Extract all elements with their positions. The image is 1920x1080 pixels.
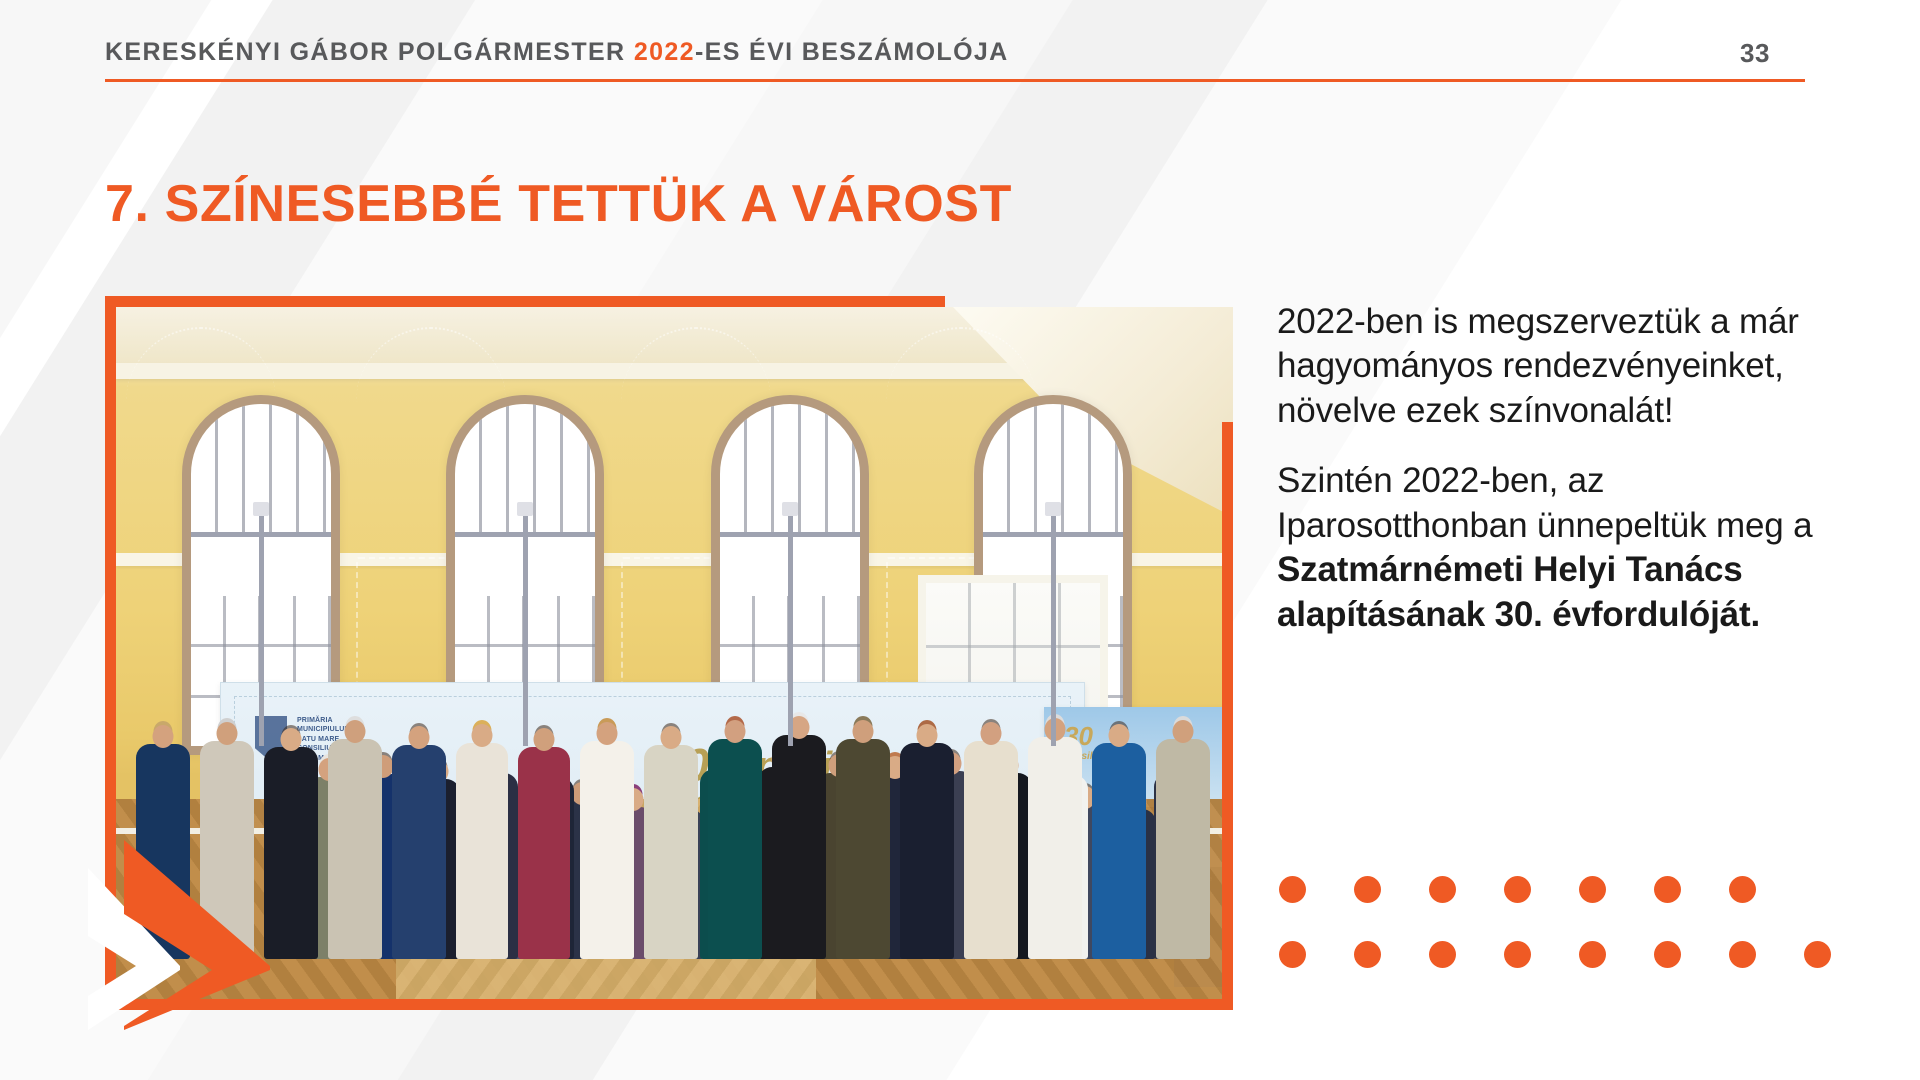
header-title-after: -ES ÉVI BESZÁMOLÓJA: [695, 38, 1009, 66]
header-title-year: 2022: [634, 38, 695, 66]
dot-row-1: [1279, 876, 1799, 903]
slide-header: KERESKÉNYI GÁBOR POLGÁRMESTER 2022-ES ÉV…: [105, 34, 1805, 86]
paragraph-2-bold: Szatmárnémeti Helyi Tanács alapításának …: [1277, 550, 1760, 633]
header-title-before: KERESKÉNYI GÁBOR POLGÁRMESTER: [105, 38, 634, 66]
slide-root: KERESKÉNYI GÁBOR POLGÁRMESTER 2022-ES ÉV…: [0, 0, 1920, 1080]
dot: [1579, 876, 1606, 903]
dot: [1504, 941, 1531, 968]
dot: [1729, 876, 1756, 903]
dot: [1354, 941, 1381, 968]
body-text-column: 2022-ben is megszerveztük a már hagyomán…: [1277, 300, 1837, 637]
dot: [1654, 941, 1681, 968]
dot: [1729, 941, 1756, 968]
paragraph-2-plain: Szintén 2022-ben, az Iparosotthonban ünn…: [1277, 461, 1812, 544]
photo-frame-bottom: [105, 999, 1233, 1010]
photo-frame-left: [105, 296, 116, 1010]
dot-row-2: [1279, 941, 1799, 968]
dot: [1504, 876, 1531, 903]
paragraph-2: Szintén 2022-ben, az Iparosotthonban ünn…: [1277, 459, 1837, 637]
page-title: 7. SZÍNESEBBÉ TETTÜK A VÁROST: [105, 178, 1012, 230]
header-title: KERESKÉNYI GÁBOR POLGÁRMESTER 2022-ES ÉV…: [105, 40, 1009, 65]
dot: [1279, 876, 1306, 903]
dot: [1429, 941, 1456, 968]
dot: [1354, 876, 1381, 903]
photo-frame-right: [1222, 422, 1233, 1010]
event-photograph: PRIMĂRIA MUNICIPIULUI SATU MARE CONSILIU…: [116, 307, 1233, 999]
dot: [1429, 876, 1456, 903]
dot: [1579, 941, 1606, 968]
dot: [1654, 876, 1681, 903]
paragraph-1: 2022-ben is megszerveztük a már hagyomán…: [1277, 300, 1837, 433]
photo-block: PRIMĂRIA MUNICIPIULUI SATU MARE CONSILIU…: [105, 296, 1233, 1010]
page-number: 33: [1740, 38, 1770, 69]
dot: [1279, 941, 1306, 968]
crowd-of-people: [116, 629, 1233, 959]
header-divider: [105, 79, 1805, 82]
dot-grid-decoration: [1279, 876, 1799, 968]
photo-frame-top: [105, 296, 945, 307]
dot: [1804, 941, 1831, 968]
